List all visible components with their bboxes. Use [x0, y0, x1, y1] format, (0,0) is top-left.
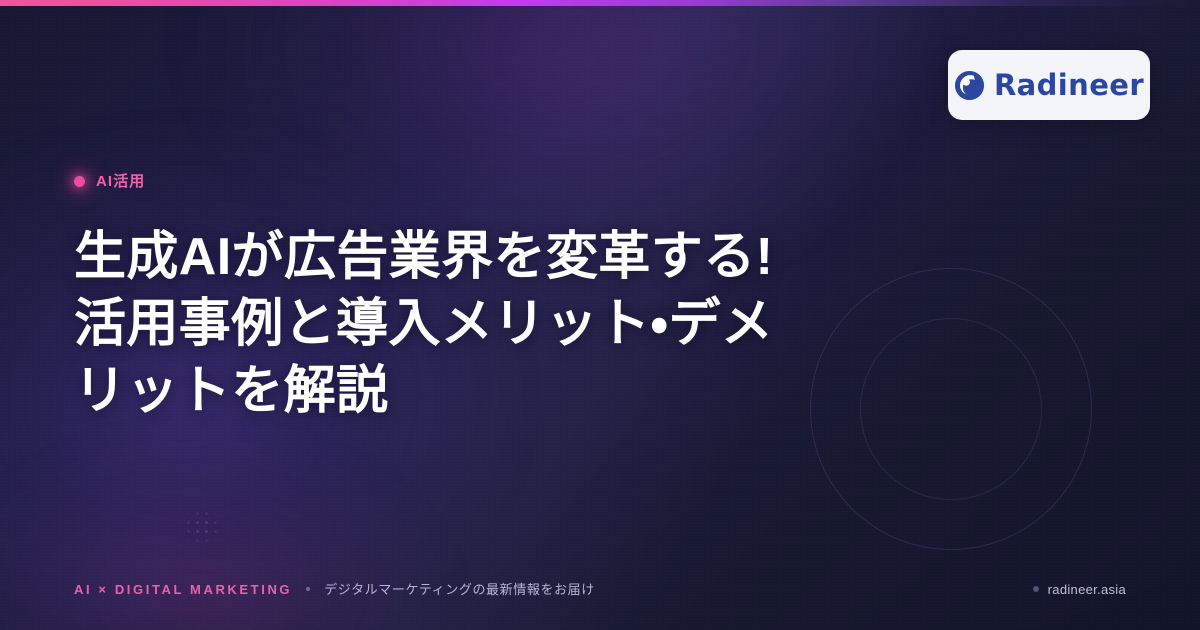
- footer-left-group: AI × DIGITAL MARKETING デジタルマーケティングの最新情報を…: [74, 583, 595, 596]
- brand-wordmark: Radineer: [994, 71, 1144, 100]
- ogp-card: Radineer AI活用 生成AIが広告業界を変革する!活用事例と導入メリット…: [0, 0, 1200, 630]
- category-dot-icon: [74, 176, 85, 187]
- footer: AI × DIGITAL MARKETING デジタルマーケティングの最新情報を…: [0, 580, 1200, 598]
- accent-gradient-bar: [0, 0, 1200, 6]
- footer-kicker: AI × DIGITAL MARKETING: [74, 583, 292, 596]
- footer-site-dot-icon: [1033, 586, 1039, 592]
- footer-site-group[interactable]: radineer.asia: [1033, 583, 1126, 596]
- swirl-circle-icon: [954, 70, 985, 101]
- footer-tagline: デジタルマーケティングの最新情報をお届け: [324, 583, 595, 596]
- category-badge[interactable]: AI活用: [74, 174, 145, 189]
- footer-site-url: radineer.asia: [1048, 583, 1126, 596]
- brand-logo[interactable]: Radineer: [948, 50, 1150, 120]
- category-label: AI活用: [96, 174, 145, 189]
- footer-separator-dot-icon: [306, 587, 310, 591]
- page-title: 生成AIが広告業界を変革する!活用事例と導入メリット・デメリットを解説: [74, 224, 804, 425]
